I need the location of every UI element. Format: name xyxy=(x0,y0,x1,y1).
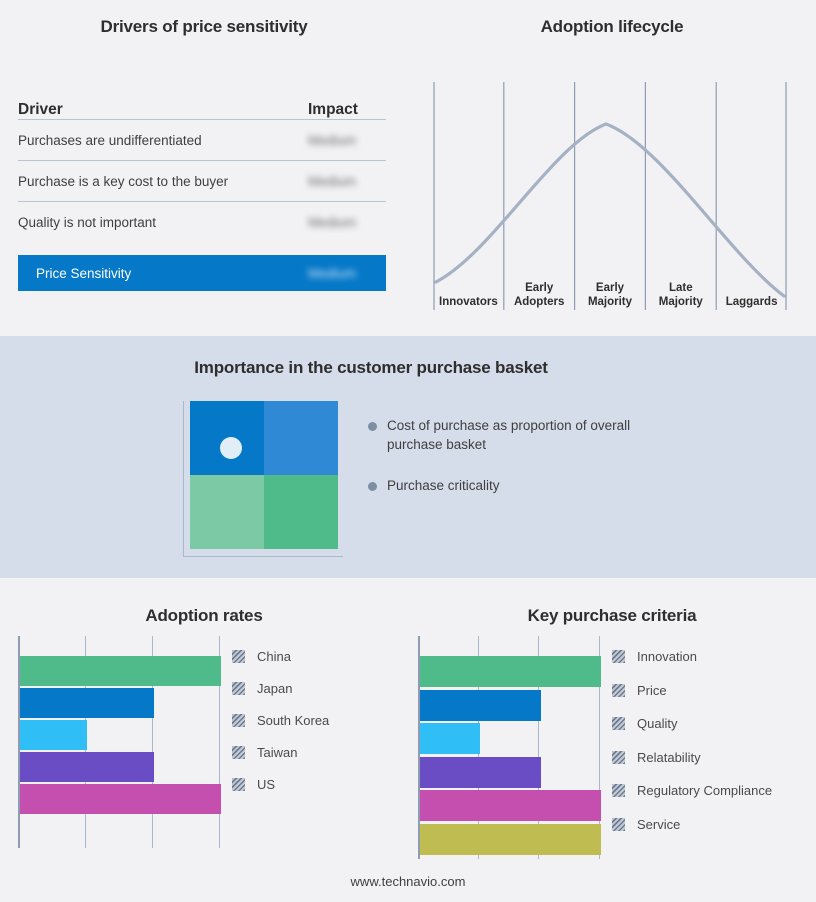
hatch-swatch-icon xyxy=(232,682,245,695)
table-row: Purchase is a key cost to the buyer Medi… xyxy=(18,161,386,202)
stage-label-line1: Early xyxy=(596,281,624,295)
adoption-rates-panel: Adoption rates ChinaJapanSouth KoreaTaiw… xyxy=(0,578,408,878)
lifecycle-stage-labels: Innovators Early Adopters Early Majority… xyxy=(433,265,787,311)
impact-value: Medium xyxy=(308,174,386,189)
legend-item: Taiwan xyxy=(232,736,329,768)
criteria-bars-container xyxy=(420,636,600,859)
quadrant-top-right xyxy=(264,401,338,475)
legend-label: Innovation xyxy=(637,649,697,664)
adoption-bars-container xyxy=(20,636,220,848)
footer-url: www.technavio.com xyxy=(0,874,816,889)
basket-legend: Cost of purchase as proportion of overal… xyxy=(368,416,668,517)
legend-item: Purchase criticality xyxy=(368,476,668,495)
bar-regulatory-compliance xyxy=(420,790,601,821)
legend-label: Purchase criticality xyxy=(387,476,500,495)
legend-label: Relatability xyxy=(637,750,701,765)
adoption-rates-legend: ChinaJapanSouth KoreaTaiwanUS xyxy=(232,640,329,800)
hatch-swatch-icon xyxy=(612,684,625,697)
hatch-swatch-icon xyxy=(612,818,625,831)
legend-label: Price xyxy=(637,683,667,698)
hatch-swatch-icon xyxy=(232,778,245,791)
summary-impact-value: Medium xyxy=(308,266,386,281)
adoption-lifecycle-panel: Adoption lifecycle Innovators xyxy=(408,0,816,336)
hatch-swatch-icon xyxy=(612,784,625,797)
stage-label-line2: Innovators xyxy=(439,295,498,309)
legend-item: China xyxy=(232,640,329,672)
key-purchase-criteria-plot xyxy=(418,636,600,859)
legend-label: Quality xyxy=(637,716,677,731)
bar-us xyxy=(20,784,221,814)
legend-item: Relatability xyxy=(612,741,772,775)
adoption-rates-title: Adoption rates xyxy=(0,606,408,626)
stage-label-innovators: Innovators xyxy=(433,265,504,311)
driver-label: Purchases are undifferentiated xyxy=(18,133,308,148)
stage-label-line2: Laggards xyxy=(726,295,778,309)
legend-label: China xyxy=(257,649,291,664)
impact-value: Medium xyxy=(308,215,386,230)
stage-label-line2: Majority xyxy=(659,295,703,309)
hatch-swatch-icon xyxy=(612,650,625,663)
stage-label-laggards: Laggards xyxy=(716,265,787,311)
legend-item: Quality xyxy=(612,707,772,741)
stage-label-line1: Early xyxy=(525,281,553,295)
drivers-of-price-sensitivity-panel: Drivers of price sensitivity Driver Impa… xyxy=(0,0,408,336)
column-header-impact: Impact xyxy=(308,101,386,119)
quadrant-grid xyxy=(190,401,338,549)
table-row: Quality is not important Medium xyxy=(18,202,386,243)
quadrant-bottom-right xyxy=(264,475,338,549)
legend-label: Regulatory Compliance xyxy=(637,783,772,798)
bar-quality xyxy=(420,723,480,754)
basket-panel-title: Importance in the customer purchase bask… xyxy=(0,358,742,378)
legend-item: Japan xyxy=(232,672,329,704)
quadrant-position-marker xyxy=(220,437,242,459)
driver-label: Quality is not important xyxy=(18,215,308,230)
hatch-swatch-icon xyxy=(232,650,245,663)
adoption-rates-plot xyxy=(18,636,220,848)
bar-innovation xyxy=(420,656,601,687)
bar-price xyxy=(420,690,541,721)
legend-label: South Korea xyxy=(257,713,329,728)
legend-label: Service xyxy=(637,817,680,832)
table-header-row: Driver Impact xyxy=(18,90,386,120)
column-header-driver: Driver xyxy=(18,101,308,119)
driver-label: Purchase is a key cost to the buyer xyxy=(18,174,308,189)
legend-item: Service xyxy=(612,808,772,842)
bar-south-korea xyxy=(20,720,87,750)
legend-item: US xyxy=(232,768,329,800)
price-sensitivity-summary-row: Price Sensitivity Medium xyxy=(18,255,386,291)
top-row: Drivers of price sensitivity Driver Impa… xyxy=(0,0,816,336)
drivers-table: Driver Impact Purchases are undifferenti… xyxy=(18,90,386,291)
key-purchase-criteria-legend: InnovationPriceQualityRelatabilityRegula… xyxy=(612,640,772,841)
key-purchase-criteria-title: Key purchase criteria xyxy=(408,606,816,626)
quadrant-y-axis xyxy=(183,401,184,557)
stage-label-late-majority: Late Majority xyxy=(645,265,716,311)
stage-label-early-majority: Early Majority xyxy=(575,265,646,311)
purchase-basket-band: Importance in the customer purchase bask… xyxy=(0,336,816,578)
hatch-swatch-icon xyxy=(232,746,245,759)
summary-driver-label: Price Sensitivity xyxy=(36,266,308,281)
legend-label: US xyxy=(257,777,275,792)
hatch-swatch-icon xyxy=(612,717,625,730)
legend-item: Regulatory Compliance xyxy=(612,774,772,808)
legend-label: Japan xyxy=(257,681,292,696)
bottom-row: Adoption rates ChinaJapanSouth KoreaTaiw… xyxy=(0,578,816,902)
bar-taiwan xyxy=(20,752,154,782)
legend-item: Price xyxy=(612,674,772,708)
hatch-swatch-icon xyxy=(232,714,245,727)
quadrant-matrix-chart xyxy=(183,401,343,557)
stage-label-line2: Adopters xyxy=(514,295,564,309)
impact-value: Medium xyxy=(308,133,386,148)
drivers-panel-title: Drivers of price sensitivity xyxy=(0,17,408,37)
legend-item: Cost of purchase as proportion of overal… xyxy=(368,416,668,454)
key-purchase-criteria-panel: Key purchase criteria InnovationPriceQua… xyxy=(408,578,816,878)
legend-item: Innovation xyxy=(612,640,772,674)
stage-label-line1: Late xyxy=(669,281,693,295)
table-row: Purchases are undifferentiated Medium xyxy=(18,120,386,161)
bullet-dot-icon xyxy=(368,482,377,491)
bar-service xyxy=(420,824,601,855)
stage-label-line2: Majority xyxy=(588,295,632,309)
legend-label: Cost of purchase as proportion of overal… xyxy=(387,416,668,454)
lifecycle-panel-title: Adoption lifecycle xyxy=(408,17,816,37)
quadrant-bottom-left xyxy=(190,475,264,549)
hatch-swatch-icon xyxy=(612,751,625,764)
legend-item: South Korea xyxy=(232,704,329,736)
quadrant-x-axis xyxy=(183,556,343,557)
bar-china xyxy=(20,656,221,686)
bar-relatability xyxy=(420,757,541,788)
bullet-dot-icon xyxy=(368,422,377,431)
stage-label-early-adopters: Early Adopters xyxy=(504,265,575,311)
bar-japan xyxy=(20,688,154,718)
legend-label: Taiwan xyxy=(257,745,297,760)
